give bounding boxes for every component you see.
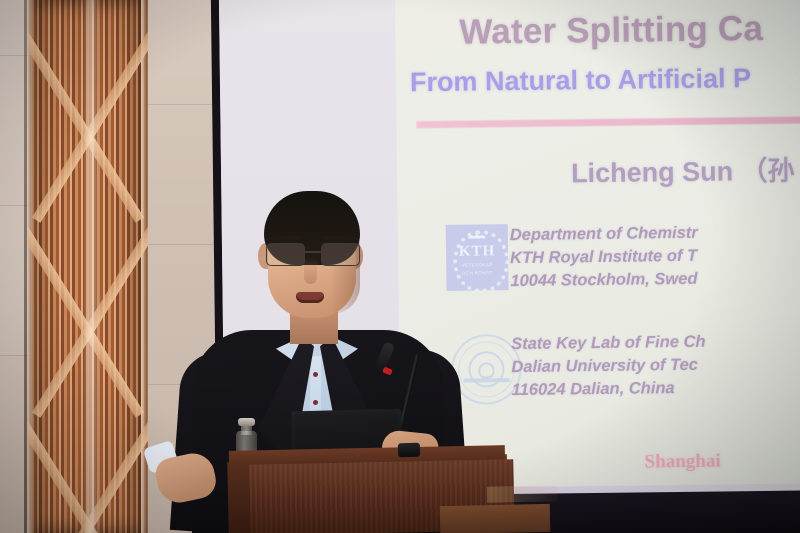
kth-crown-icon: [468, 229, 486, 238]
nose: [304, 258, 317, 284]
shirt-button: [313, 372, 318, 377]
wall-tile: [148, 104, 219, 245]
slide-title: Water Splitting Ca: [459, 9, 763, 53]
eyeglass-lens-left: [266, 243, 305, 266]
slide-divider-rule: [416, 116, 800, 128]
affiliation-kth: Department of Chemistr KTH Royal Institu…: [510, 222, 699, 293]
wall-seam: [24, 0, 27, 533]
wall-tile: [148, 0, 219, 105]
eyeglass-bridge: [303, 251, 323, 253]
slide-speaker-name: Licheng Sun （孙: [571, 149, 795, 191]
slide-subtitle: From Natural to Artificial P: [410, 63, 751, 98]
podium-shelf-highlight: [487, 485, 557, 502]
water-bottle-cap: [238, 418, 255, 426]
dut-bar-icon: [464, 378, 510, 383]
dut-emblem-icon: [478, 362, 494, 378]
kth-logo: KTH VETENSKAP OCH KONST: [446, 224, 509, 291]
kth-logo-motto-1: VETENSKAP: [462, 262, 493, 268]
kth-logo-text: KTH: [459, 243, 496, 260]
slide-footer: Shanghai: [644, 451, 720, 474]
shirt-button: [313, 400, 318, 405]
microphone-base: [398, 443, 420, 458]
wood-slat-column: [28, 0, 148, 533]
mouth: [296, 292, 324, 303]
eyeglass-lens-right: [321, 243, 360, 266]
affiliation-dut: State Key Lab of Fine Ch Dalian Universi…: [511, 331, 706, 402]
podium-base: [440, 504, 551, 533]
presentation-photo: Water Splitting Ca From Natural to Artif…: [0, 0, 800, 533]
kth-logo-motto-2: OCH KONST: [462, 270, 493, 276]
